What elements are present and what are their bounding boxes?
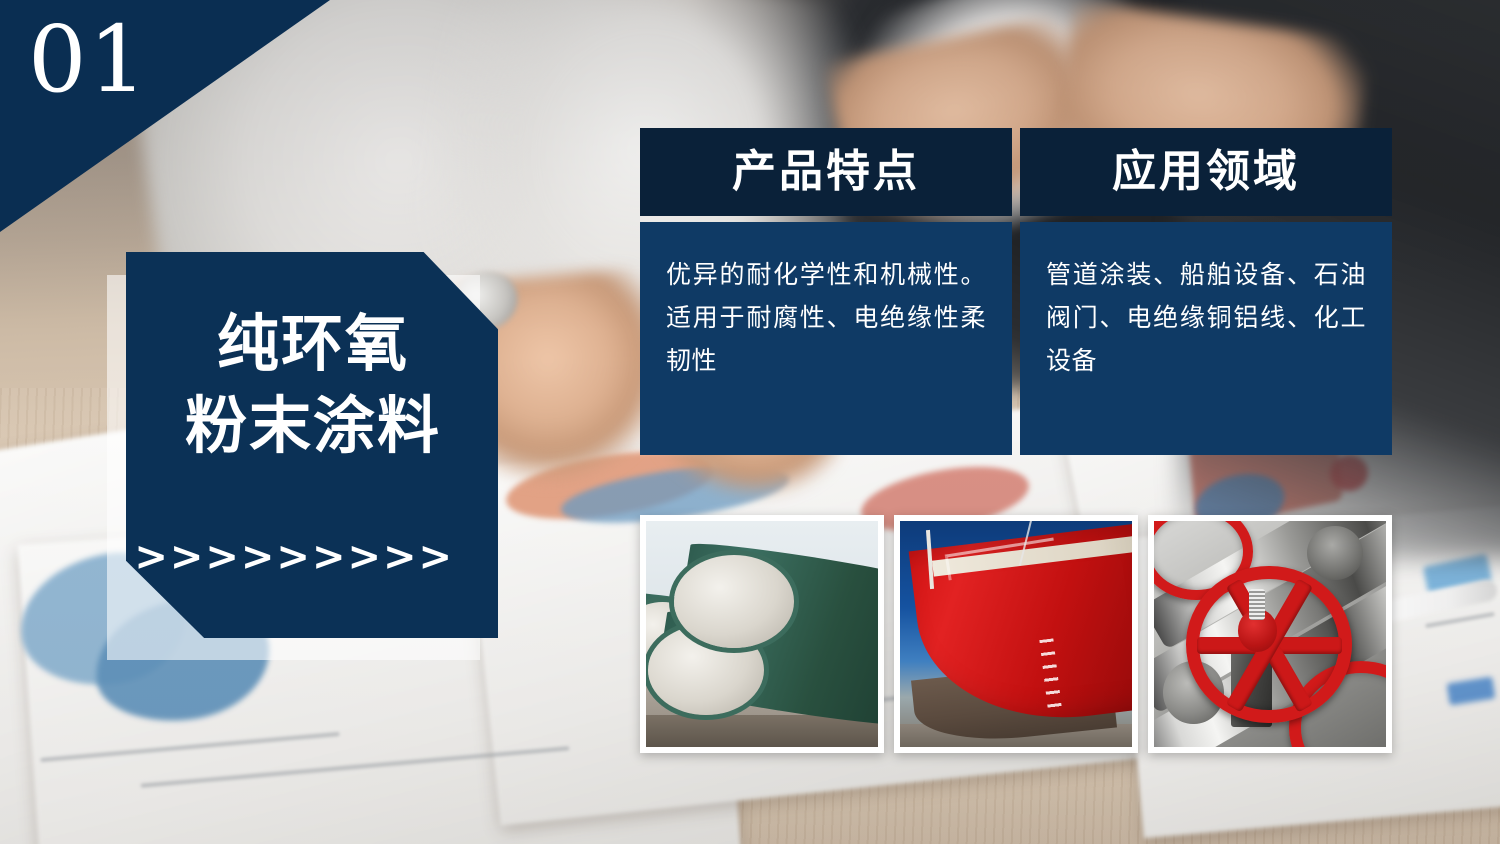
pipe-end-cap — [674, 555, 795, 648]
page-title-line-1: 纯环氧 — [148, 304, 478, 386]
panel-product-features: 产品特点 优异的耐化学性和机械性。适用于耐腐性、电绝缘性柔韧性 — [640, 128, 1012, 455]
photo-green-coated-pipes — [640, 515, 884, 753]
info-panels: 产品特点 优异的耐化学性和机械性。适用于耐腐性、电绝缘性柔韧性 应用领域 管道涂… — [640, 128, 1392, 455]
panel-body-product-features: 优异的耐化学性和机械性。适用于耐腐性、电绝缘性柔韧性 — [640, 222, 1012, 455]
panel-body-text: 管道涂装、船舶设备、石油阀门、电绝缘铜铝线、化工设备 — [1046, 254, 1366, 383]
photo-red-ship-hull — [894, 515, 1138, 753]
photo-image — [1154, 521, 1386, 747]
panel-body-application-areas: 管道涂装、船舶设备、石油阀门、电绝缘铜铝线、化工设备 — [1020, 222, 1392, 455]
slide-root: 01 纯环氧 粉末涂料 >>>>>>>>> 产品特点 优异的耐化学性和机械性。适… — [0, 0, 1500, 844]
panel-application-areas: 应用领域 管道涂装、船舶设备、石油阀门、电绝缘铜铝线、化工设备 — [1020, 128, 1392, 455]
valve-stem — [1249, 589, 1265, 621]
panel-body-text: 优异的耐化学性和机械性。适用于耐腐性、电绝缘性柔韧性 — [666, 254, 986, 383]
photo-red-valve-handwheels — [1148, 515, 1392, 753]
panel-heading-label: 应用领域 — [1112, 150, 1300, 194]
section-number: 01 — [28, 14, 149, 106]
section-number-corner: 01 — [0, 0, 330, 232]
panel-heading-product-features: 产品特点 — [640, 128, 1012, 216]
page-title-line-2: 粉末涂料 — [148, 386, 478, 468]
title-badge: 纯环氧 粉末涂料 >>>>>>>>> — [126, 252, 498, 638]
panel-heading-application-areas: 应用领域 — [1020, 128, 1392, 216]
page-title: 纯环氧 粉末涂料 — [148, 304, 478, 468]
ground — [646, 715, 878, 747]
chevron-right-icon: >>>>>>>>> — [126, 537, 476, 577]
panel-heading-label: 产品特点 — [732, 150, 920, 194]
photo-image — [900, 521, 1132, 747]
photo-image — [646, 521, 878, 747]
photo-strip — [640, 515, 1392, 753]
pipe-flange — [1307, 526, 1363, 580]
